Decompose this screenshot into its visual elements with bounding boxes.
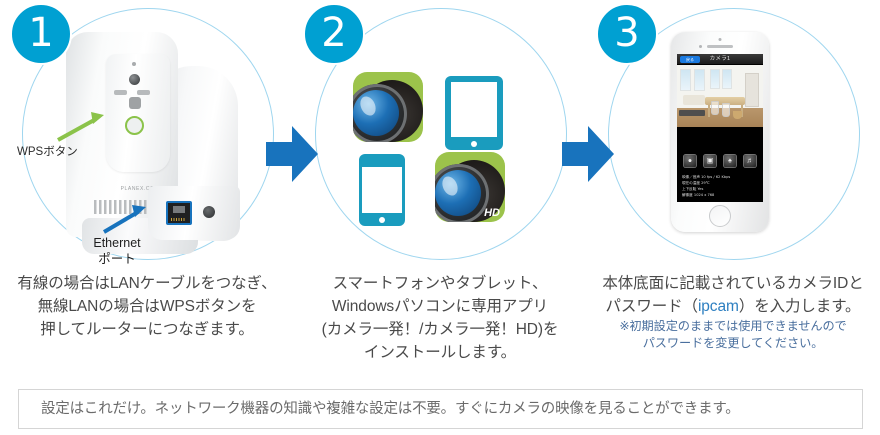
lens-glass: [353, 90, 399, 136]
ethernet-port-pins: [171, 218, 186, 221]
smartphone-screen: [362, 167, 402, 213]
step-1-caption: 有線の場合はLANケーブルをつなぎ、 無線LANの場合はWPSボタンを 押してル…: [0, 272, 294, 341]
app-icon-camera-ippatsu-hd[interactable]: HD: [435, 152, 505, 222]
app-icon-camera-ippatsu[interactable]: [353, 72, 423, 142]
room-chair: [711, 101, 719, 115]
note-line: パスワードを変更してください。: [586, 335, 880, 352]
room-chair: [722, 103, 730, 117]
app-icon-group: HD: [353, 72, 528, 232]
front-camera-icon: [699, 45, 702, 48]
room-window-4: [722, 69, 732, 89]
arrow-step1-to-step2: [266, 126, 318, 182]
ethernet-label-line-1: Ethernet: [82, 235, 152, 251]
ethernet-port-notch: [173, 206, 185, 213]
device-smartphone: [359, 154, 405, 226]
arrow-step2-to-step3: [562, 126, 614, 182]
step-3-note: ※初期設定のままでは使用できませんので パスワードを変更してください。: [586, 318, 880, 352]
alarm-icon: ♠: [728, 158, 732, 165]
room-rug: [679, 110, 705, 116]
caption-line: (カメラ一発！/カメラ一発！HD)を: [293, 318, 587, 341]
caption-line: Windowsパソコンに専用アプリ: [293, 295, 587, 318]
iphone-mockup: 戻る カメラ1: [671, 32, 769, 232]
caption-line: 有線の場合はLANケーブルをつなぎ、: [0, 272, 294, 295]
camera-status-led: [132, 62, 136, 66]
step-3-caption: 本体底面に記載されているカメラIDと パスワード（ipcam）を入力します。 ※…: [586, 272, 880, 352]
caption-suffix: ）を入力します。: [739, 298, 861, 315]
room-sofa: [683, 95, 705, 105]
app-navigation-bar: 戻る カメラ1: [677, 54, 763, 65]
wps-button[interactable]: [125, 116, 144, 135]
step-badge-2: 2: [303, 3, 365, 65]
lens-glass: [435, 170, 481, 216]
speaker-icon: ♬: [747, 158, 754, 165]
camera-live-view: [677, 65, 763, 127]
infographic-root: PLANEX.COM WPSボタン Ethernet: [0, 0, 880, 435]
password-value: ipcam: [698, 298, 739, 315]
caption-line: インストールします。: [293, 341, 587, 364]
table-leg: [708, 105, 710, 117]
earpiece-speaker: [707, 45, 733, 48]
step-2: HD 2 スマートフォンやタブレット、 Windowsパソコンに専用アプリ (カ…: [293, 0, 587, 370]
camera-port-panel: [148, 186, 240, 240]
smartphone-home-button: [379, 217, 385, 223]
step-badge-1: 1: [10, 3, 72, 65]
summary-bar: 設定はこれだけ。ネットワーク機器の知識や複雑な設定は不要。すぐにカメラの映像を見…: [18, 389, 863, 429]
mic-icon: ●: [688, 158, 692, 165]
snapshot-button[interactable]: ▣: [703, 154, 717, 168]
camera-front-panel: [106, 54, 170, 172]
room-cabinet: [745, 73, 759, 107]
room-window-1: [680, 69, 691, 91]
caption-line: スマートフォンやタブレット、: [293, 272, 587, 295]
step-3: 戻る カメラ1: [586, 0, 880, 370]
camera-slot-right: [137, 90, 150, 95]
caption-prefix: パスワード（: [606, 298, 698, 315]
proximity-sensor-icon: [719, 38, 722, 41]
mic-button[interactable]: ●: [683, 154, 697, 168]
ethernet-label-line-2: ポート: [82, 251, 152, 267]
step-1: PLANEX.COM WPSボタン Ethernet: [0, 0, 294, 370]
room-window-3: [710, 69, 720, 89]
camera-slot-left: [114, 90, 127, 95]
hd-badge: HD: [484, 207, 500, 219]
step-badge-3: 3: [596, 3, 658, 65]
camera-status-info: 映像／音声 10 fps / 62 Kbps 現在の温度 29℃ 上下反転 Ye…: [682, 174, 730, 198]
power-jack: [203, 206, 215, 218]
ethernet-port: [166, 201, 192, 225]
speaker-button[interactable]: ♬: [743, 154, 757, 168]
room-window-2: [694, 69, 705, 91]
app-title: カメラ1: [677, 54, 763, 65]
step-2-caption: スマートフォンやタブレット、 Windowsパソコンに専用アプリ (カメラ一発！…: [293, 272, 587, 364]
info-line: 解像度 1024 x 768: [682, 192, 730, 198]
device-tablet: [445, 76, 503, 150]
ethernet-port-label: Ethernet ポート: [82, 235, 152, 267]
iphone-home-button[interactable]: [709, 205, 731, 227]
camera-lens-icon: [129, 74, 140, 85]
caption-line-with-accent: パスワード（ipcam）を入力します。: [586, 295, 880, 318]
room-basket: [733, 111, 742, 119]
caption-line: 押してルーターにつなぎます。: [0, 318, 294, 341]
camera-speaker-grill: [129, 97, 141, 109]
alarm-button[interactable]: ♠: [723, 154, 737, 168]
camera-photo: PLANEX.COM: [48, 18, 253, 253]
phone-screen: 戻る カメラ1: [677, 54, 763, 202]
summary-text: 設定はこれだけ。ネットワーク機器の知識や複雑な設定は不要。すぐにカメラの映像を見…: [41, 390, 740, 428]
wps-button-label: WPSボタン: [17, 143, 78, 159]
note-line: ※初期設定のままでは使用できませんので: [586, 318, 880, 335]
camera-control-row: ● ▣ ♠ ♬: [683, 154, 757, 168]
caption-line: 本体底面に記載されているカメラIDと: [586, 272, 880, 295]
caption-line: 無線LANの場合はWPSボタンを: [0, 295, 294, 318]
snapshot-icon: ▣: [707, 158, 714, 165]
tablet-home-button: [471, 141, 477, 147]
tablet-screen: [451, 82, 497, 137]
